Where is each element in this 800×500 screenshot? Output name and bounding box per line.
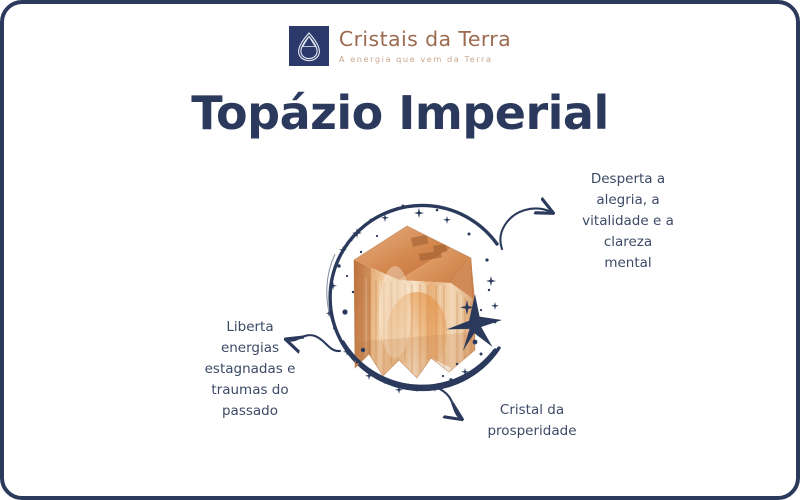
imperial-topaz-crystal-icon	[299, 182, 529, 412]
crystal-body	[354, 226, 475, 382]
annotation-right: Desperta a alegria, a vitalidade e a cla…	[552, 169, 704, 274]
brand-text-block: Cristais da Terra A energia que vem da T…	[339, 29, 511, 64]
page-title: Topázio Imperial	[4, 88, 796, 139]
brand-name: Cristais da Terra	[339, 29, 511, 50]
brand-tagline: A energia que vem da Terra	[339, 55, 511, 63]
brand-logo: Cristais da Terra A energia que vem da T…	[4, 26, 796, 66]
infographic-card: Cristais da Terra A energia que vem da T…	[0, 0, 800, 500]
crystal-artwork	[299, 182, 529, 412]
gem-teardrop-icon	[289, 26, 329, 66]
annotation-left: Liberta energias estagnadas e traumas do…	[186, 317, 314, 422]
annotation-bottom: Cristal da prosperidade	[466, 400, 598, 442]
